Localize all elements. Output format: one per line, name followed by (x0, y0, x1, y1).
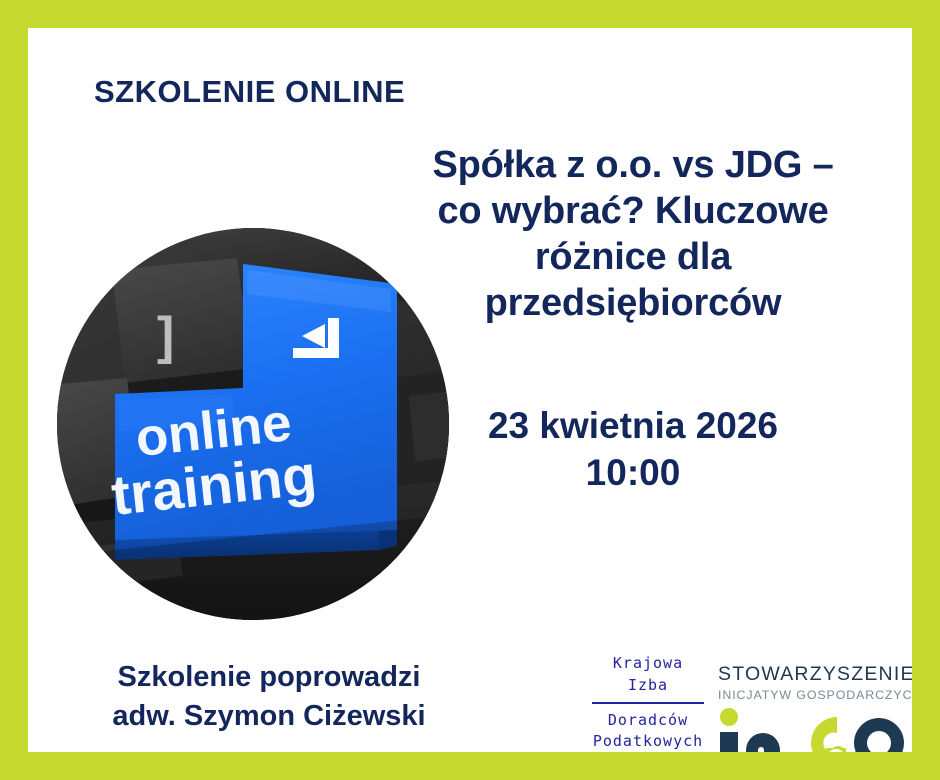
poster-inner-card: SZKOLENIE ONLINE (28, 28, 912, 752)
page-title: Spółka z o.o. vs JDG – co wybrać? Kluczo… (383, 143, 883, 327)
presenter-name: adw. Szymon Ciżewski (54, 697, 484, 736)
kidp-logo-line-2: Izba (568, 675, 728, 697)
ingo-logo-top-line: STOWARZYSZENIE (718, 664, 912, 685)
title-line-2: co wybrać? Kluczowe (383, 189, 883, 235)
ingo-logo-sub-line: INICJATYW GOSPODARCZYCH (718, 688, 912, 703)
kidp-logo-divider (592, 702, 704, 704)
eyebrow-label: SZKOLENIE ONLINE (94, 74, 405, 110)
ingo-wordmark-icon (718, 708, 908, 752)
kidp-logo-line-1: Krajowa (568, 653, 728, 675)
svg-text:]: ] (157, 307, 174, 365)
presenter-intro: Szkolenie poprowadzi (54, 658, 484, 697)
event-datetime: 23 kwietnia 2026 10:00 (383, 403, 883, 497)
event-date: 23 kwietnia 2026 (383, 403, 883, 450)
kidp-logo: Krajowa Izba Doradców Podatkowych (568, 653, 728, 752)
title-line-4: przedsiębiorców (383, 281, 883, 327)
kidp-logo-line-3: Doradców (568, 710, 728, 732)
title-line-1: Spółka z o.o. vs JDG – (383, 143, 883, 189)
presenter-info: Szkolenie poprowadzi adw. Szymon Ciżewsk… (54, 658, 484, 735)
kidp-logo-line-4: Podatkowych (568, 731, 728, 752)
ingo-logo: STOWARZYSZENIE INICJATYW GOSPODARCZYCH (718, 664, 912, 752)
title-line-3: różnice dla (383, 235, 883, 281)
event-time: 10:00 (383, 450, 883, 497)
poster-canvas: SZKOLENIE ONLINE (0, 0, 940, 780)
